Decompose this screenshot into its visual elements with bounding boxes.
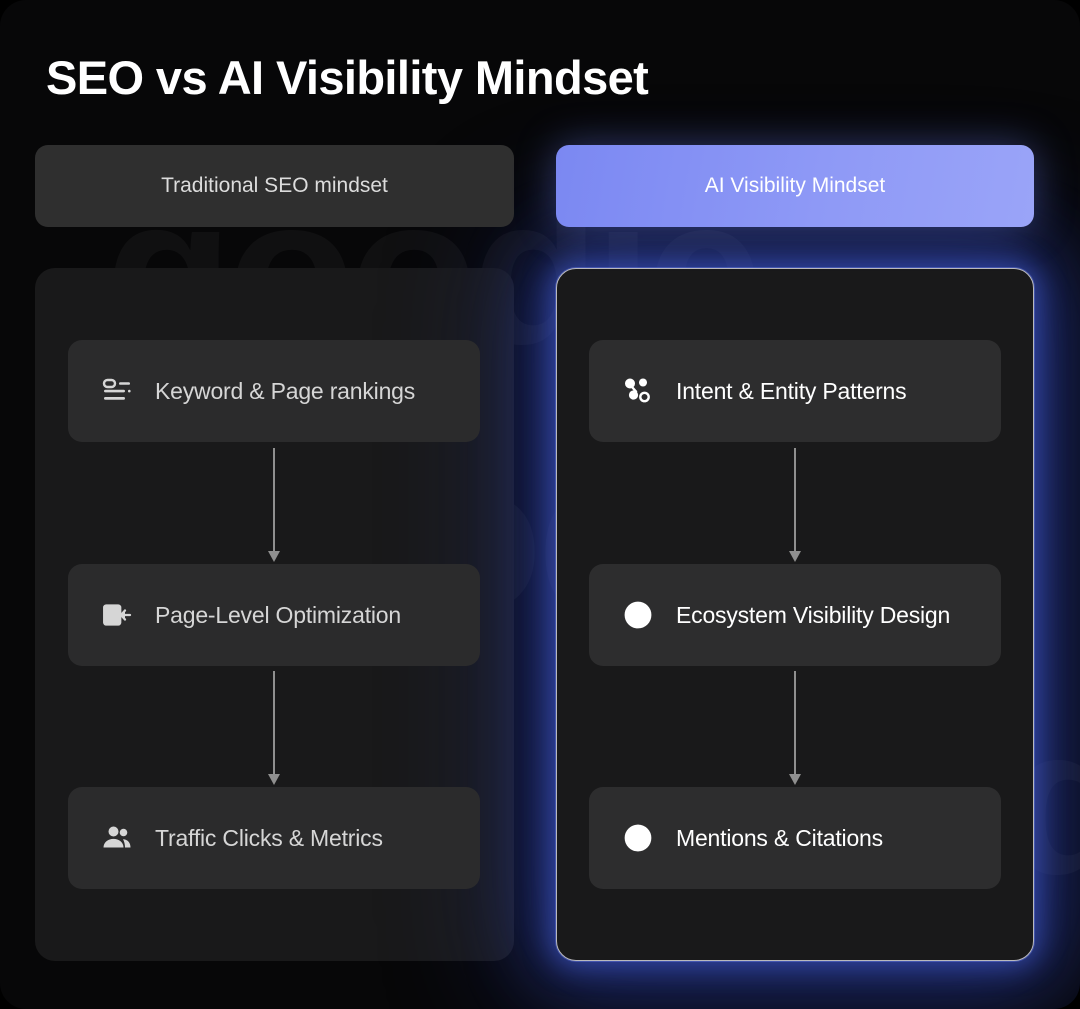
list-item[interactable]: Keyword & Page rankings	[68, 340, 480, 442]
list-item-label: Intent & Entity Patterns	[676, 378, 906, 405]
infographic-canvas: goodie goodie goodie SEO vs AI Visibilit…	[0, 0, 1080, 1009]
arrow-head-icon	[789, 551, 801, 562]
column-header-ai-visibility[interactable]: AI Visibility Mindset	[556, 145, 1034, 227]
column-header-traditional-seo[interactable]: Traditional SEO mindset	[35, 145, 514, 227]
column-header-label: Traditional SEO mindset	[161, 174, 388, 198]
column-header-label: AI Visibility Mindset	[705, 174, 886, 198]
globe-icon	[621, 821, 655, 855]
list-item-label: Keyword & Page rankings	[155, 378, 415, 405]
network-nodes-icon	[621, 374, 655, 408]
arrow-head-icon	[789, 774, 801, 785]
circle-monogram-icon	[621, 598, 655, 632]
arrow-connector	[788, 448, 802, 562]
list-item[interactable]: Ecosystem Visibility Design	[589, 564, 1001, 666]
arrow-stem	[273, 448, 275, 552]
arrow-head-icon	[268, 551, 280, 562]
list-item[interactable]: Traffic Clicks & Metrics	[68, 787, 480, 889]
list-item[interactable]: Page-Level Optimization	[68, 564, 480, 666]
list-item-label: Mentions & Citations	[676, 825, 883, 852]
list-item-label: Page-Level Optimization	[155, 602, 401, 629]
list-item[interactable]: Mentions & Citations	[589, 787, 1001, 889]
arrow-stem	[794, 671, 796, 775]
arrow-connector	[267, 671, 281, 785]
arrow-connector	[788, 671, 802, 785]
list-item[interactable]: Intent & Entity Patterns	[589, 340, 1001, 442]
page-optimization-icon	[100, 598, 134, 632]
arrow-stem	[794, 448, 796, 552]
arrow-head-icon	[268, 774, 280, 785]
list-item-label: Traffic Clicks & Metrics	[155, 825, 383, 852]
list-item-label: Ecosystem Visibility Design	[676, 602, 950, 629]
page-title: SEO vs AI Visibility Mindset	[46, 50, 648, 105]
users-icon	[100, 821, 134, 855]
arrow-connector	[267, 448, 281, 562]
list-ranking-icon	[100, 374, 134, 408]
arrow-stem	[273, 671, 275, 775]
